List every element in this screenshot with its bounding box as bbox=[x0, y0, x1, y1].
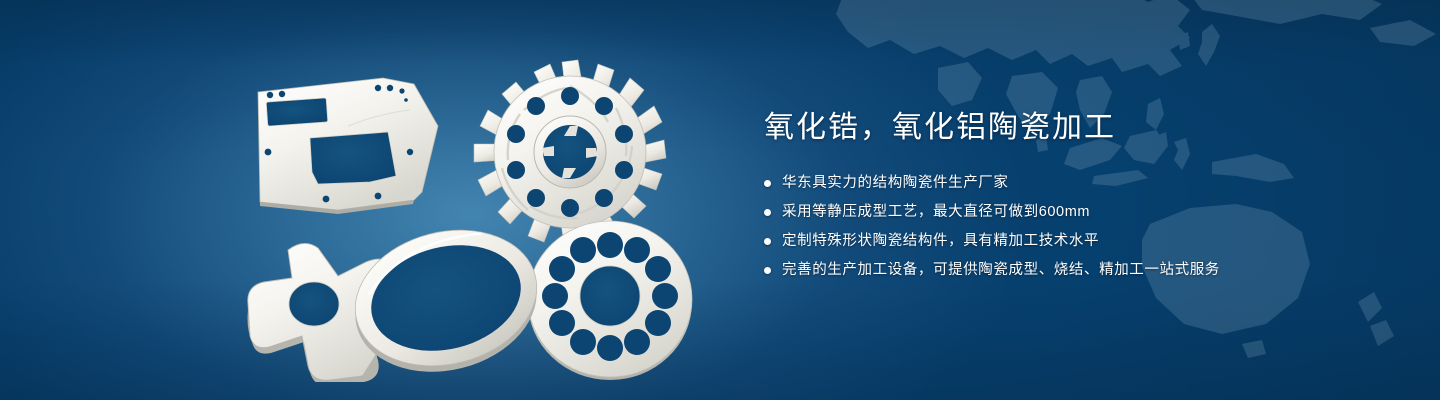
part-ceramic-disc bbox=[528, 221, 692, 380]
part-ceramic-impeller bbox=[474, 60, 666, 244]
list-item-label: 华东具实力的结构陶瓷件生产厂家 bbox=[782, 173, 1009, 194]
bullet-dot-icon bbox=[764, 267, 771, 274]
list-item-label: 定制特殊形状陶瓷结构件，具有精加工技术水平 bbox=[782, 231, 1099, 252]
list-item: 华东具实力的结构陶瓷件生产厂家 bbox=[764, 173, 1364, 194]
hero-banner: 氧化锆，氧化铝陶瓷加工 华东具实力的结构陶瓷件生产厂家 采用等静压成型工艺，最大… bbox=[0, 0, 1440, 400]
list-item: 采用等静压成型工艺，最大直径可做到600mm bbox=[764, 202, 1364, 223]
page-title: 氧化锆，氧化铝陶瓷加工 bbox=[764, 108, 1364, 147]
list-item: 定制特殊形状陶瓷结构件，具有精加工技术水平 bbox=[764, 231, 1364, 252]
bullet-dot-icon bbox=[764, 209, 771, 216]
list-item-label: 采用等静压成型工艺，最大直径可做到600mm bbox=[782, 202, 1090, 223]
bullet-dot-icon bbox=[764, 180, 771, 187]
banner-copy: 氧化锆，氧化铝陶瓷加工 华东具实力的结构陶瓷件生产厂家 采用等静压成型工艺，最大… bbox=[764, 108, 1364, 281]
list-item: 完善的生产加工设备，可提供陶瓷成型、烧结、精加工一站式服务 bbox=[764, 260, 1364, 281]
list-item-label: 完善的生产加工设备，可提供陶瓷成型、烧结、精加工一站式服务 bbox=[782, 260, 1220, 281]
feature-list: 华东具实力的结构陶瓷件生产厂家 采用等静压成型工艺，最大直径可做到600mm 定… bbox=[764, 173, 1364, 281]
part-ceramic-plate bbox=[258, 78, 438, 214]
ceramic-parts-photo bbox=[238, 52, 698, 382]
bullet-dot-icon bbox=[764, 238, 771, 245]
